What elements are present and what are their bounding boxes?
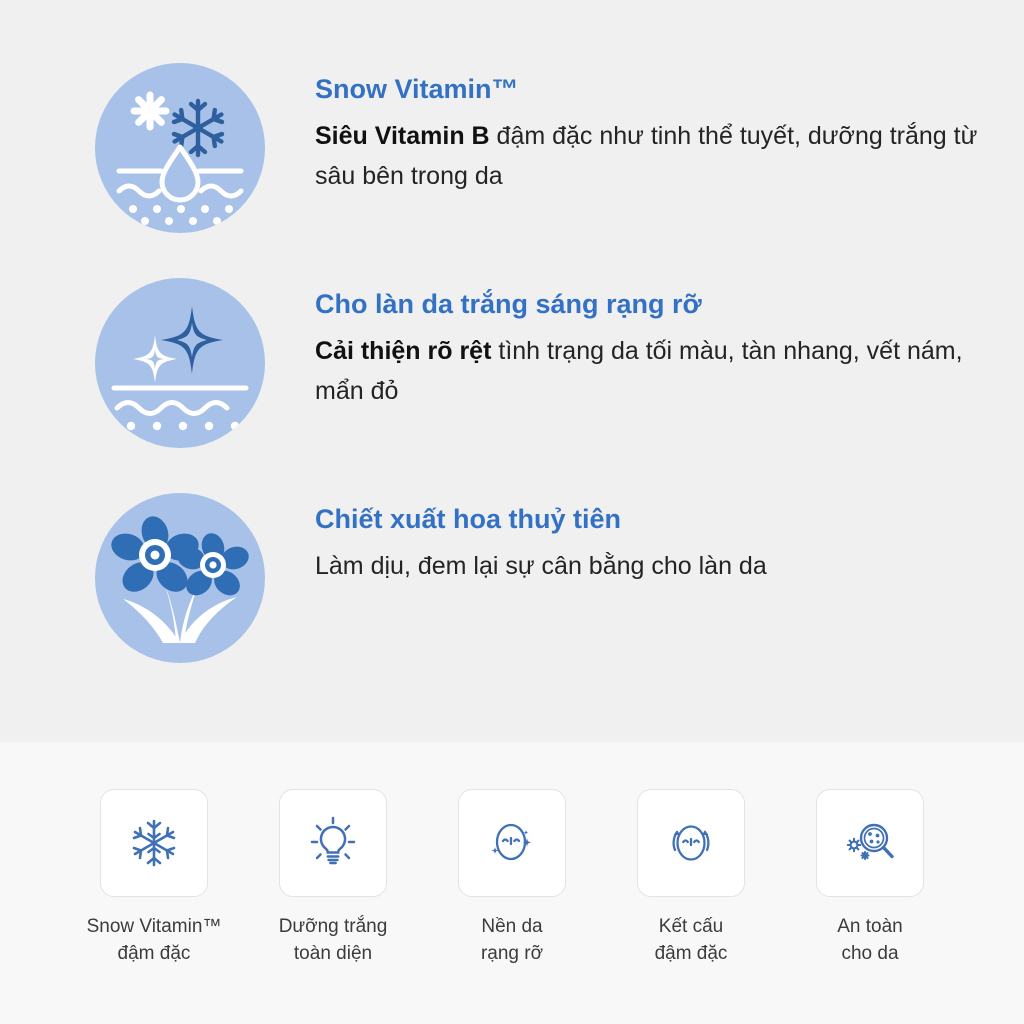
feature-title: Cho làn da trắng sáng rạng rỡ <box>315 291 1015 318</box>
lightbulb-icon <box>306 816 360 870</box>
feature-list-section: Snow Vitamin™ Siêu Vitamin B đậm đặc như… <box>0 0 1024 742</box>
badge-tile[interactable] <box>458 789 566 897</box>
badge-label: An toàn cho da <box>837 914 903 968</box>
feature-title: Chiết xuất hoa thuỷ tiên <box>315 506 767 533</box>
snowflake-icon <box>127 816 181 870</box>
sparkle-skin-brightening-icon <box>95 278 265 448</box>
product-feature-infographic: Snow Vitamin™ Siêu Vitamin B đậm đặc như… <box>0 0 1024 1024</box>
feature-icon-wrap <box>0 278 265 448</box>
feature-text: Chiết xuất hoa thuỷ tiên Làm dịu, đem lạ… <box>265 493 767 587</box>
badge-label: Snow Vitamin™ đậm đặc <box>87 914 222 968</box>
feature-icon-wrap <box>0 493 265 663</box>
feature-body: Làm dịu, đem lại sự cân bằng cho làn da <box>315 547 767 587</box>
feature-row: Snow Vitamin™ Siêu Vitamin B đậm đặc như… <box>0 63 1024 278</box>
benefit-badge[interactable]: An toàn cho da <box>781 789 960 968</box>
benefit-badge[interactable]: Kết cấu đậm đặc <box>602 789 781 968</box>
magnifier-skin-safety-icon <box>843 816 897 870</box>
narcissus-flower-icon <box>95 493 265 663</box>
feature-text: Cho làn da trắng sáng rạng rỡ Cải thiện … <box>265 278 1015 411</box>
feature-body: Siêu Vitamin B đậm đặc như tinh thể tuyế… <box>315 117 1015 196</box>
feature-body-bold: Cải thiện rõ rệt <box>315 337 491 365</box>
feature-text: Snow Vitamin™ Siêu Vitamin B đậm đặc như… <box>265 63 1015 196</box>
feature-body-bold: Siêu Vitamin B <box>315 122 490 150</box>
feature-icon-wrap <box>0 63 265 233</box>
benefit-badge-row: Snow Vitamin™ đậm đặc <box>0 742 1024 1024</box>
badge-tile[interactable] <box>816 789 924 897</box>
snow-skin-hydration-icon <box>95 63 265 233</box>
feature-body: Cải thiện rõ rệt tình trạng da tối màu, … <box>315 332 1015 411</box>
benefit-badge[interactable]: Snow Vitamin™ đậm đặc <box>65 789 244 968</box>
badge-label: Kết cấu đậm đặc <box>655 914 728 968</box>
feature-row: Cho làn da trắng sáng rạng rỡ Cải thiện … <box>0 278 1024 493</box>
glowing-face-icon <box>485 816 539 870</box>
feature-title: Snow Vitamin™ <box>315 76 1015 103</box>
benefit-badge[interactable]: Nền da rạng rỡ <box>423 789 602 968</box>
face-lifting-icon <box>664 816 718 870</box>
badge-label: Nền da rạng rỡ <box>481 914 543 968</box>
badge-tile[interactable] <box>279 789 387 897</box>
feature-body-rest: Làm dịu, đem lại sự cân bằng cho làn da <box>315 552 767 580</box>
badge-tile[interactable] <box>100 789 208 897</box>
benefit-badge[interactable]: Dưỡng trắng toàn diện <box>244 789 423 968</box>
badge-tile[interactable] <box>637 789 745 897</box>
feature-row: Chiết xuất hoa thuỷ tiên Làm dịu, đem lạ… <box>0 493 1024 708</box>
badge-label: Dưỡng trắng toàn diện <box>279 914 388 968</box>
